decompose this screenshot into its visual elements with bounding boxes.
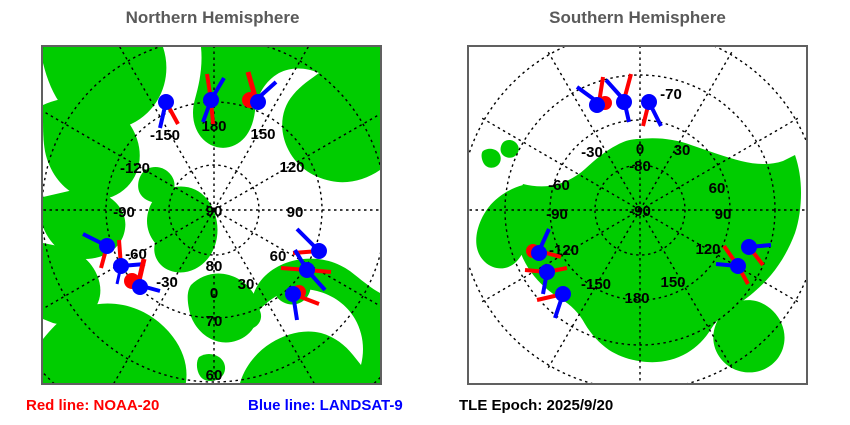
lat-label-80: 80 [206, 258, 223, 275]
lon-label-m90: -90 [546, 206, 568, 223]
lon-label-60: 60 [270, 248, 287, 265]
lon-label-m150: -150 [581, 276, 611, 293]
lon-label-m90: -90 [113, 204, 135, 221]
lon-label-m30: -30 [156, 274, 178, 291]
lon-label-30: 30 [674, 142, 691, 159]
lon-label-90: 90 [287, 204, 304, 221]
lon-label-m150: -150 [150, 127, 180, 144]
lon-label-m70: -70 [660, 86, 682, 103]
lon-label-30: 30 [238, 276, 255, 293]
lon-label-150: 150 [250, 126, 275, 143]
northern-hemisphere-map: 180 150 120 90 60 30 0 -30 -60 -90 -120 … [43, 47, 382, 385]
lat-label-90: 90 [206, 203, 223, 220]
southern-hemisphere-plot: -60 -70 0 30 60 90 120 150 180 -150 -120… [467, 45, 808, 385]
lon-label-m60b: -60 [548, 177, 570, 194]
lon-label-90: 90 [715, 206, 732, 223]
lon-label-m30: -30 [581, 144, 603, 161]
lat-label-60: 60 [206, 367, 223, 384]
southern-hemisphere-title: Southern Hemisphere [425, 8, 850, 28]
northern-hemisphere-panel: Northern Hemisphere [0, 0, 425, 390]
legend-footer: Red line: NOAA-20 Blue line: LANDSAT-9 T… [0, 393, 850, 425]
lon-label-m120: -120 [120, 160, 150, 177]
lon-label-0: 0 [210, 285, 218, 302]
lon-label-180: 180 [624, 290, 649, 307]
lon-label-120: 120 [695, 241, 720, 258]
lon-label-m60: -60 [629, 47, 651, 48]
legend-tle-epoch: TLE Epoch: 2025/9/20 [459, 397, 613, 414]
lon-label-60: 60 [709, 180, 726, 197]
lon-label-0: 0 [636, 141, 644, 158]
southern-hemisphere-map: -60 -70 0 30 60 90 120 150 180 -150 -120… [469, 47, 808, 385]
legend-noaa20: Red line: NOAA-20 [26, 397, 159, 414]
northern-hemisphere-plot: 180 150 120 90 60 30 0 -30 -60 -90 -120 … [41, 45, 382, 385]
lon-label-150: 150 [660, 274, 685, 291]
lon-label-120: 120 [279, 159, 304, 176]
northern-hemisphere-title: Northern Hemisphere [0, 8, 425, 28]
lat-label-70: 70 [206, 313, 223, 330]
lat-label-m80: -80 [629, 158, 651, 175]
southern-hemisphere-panel: Southern Hemisphere [425, 0, 850, 390]
legend-landsat9: Blue line: LANDSAT-9 [248, 397, 403, 414]
lat-label-m90: -90 [629, 203, 651, 220]
